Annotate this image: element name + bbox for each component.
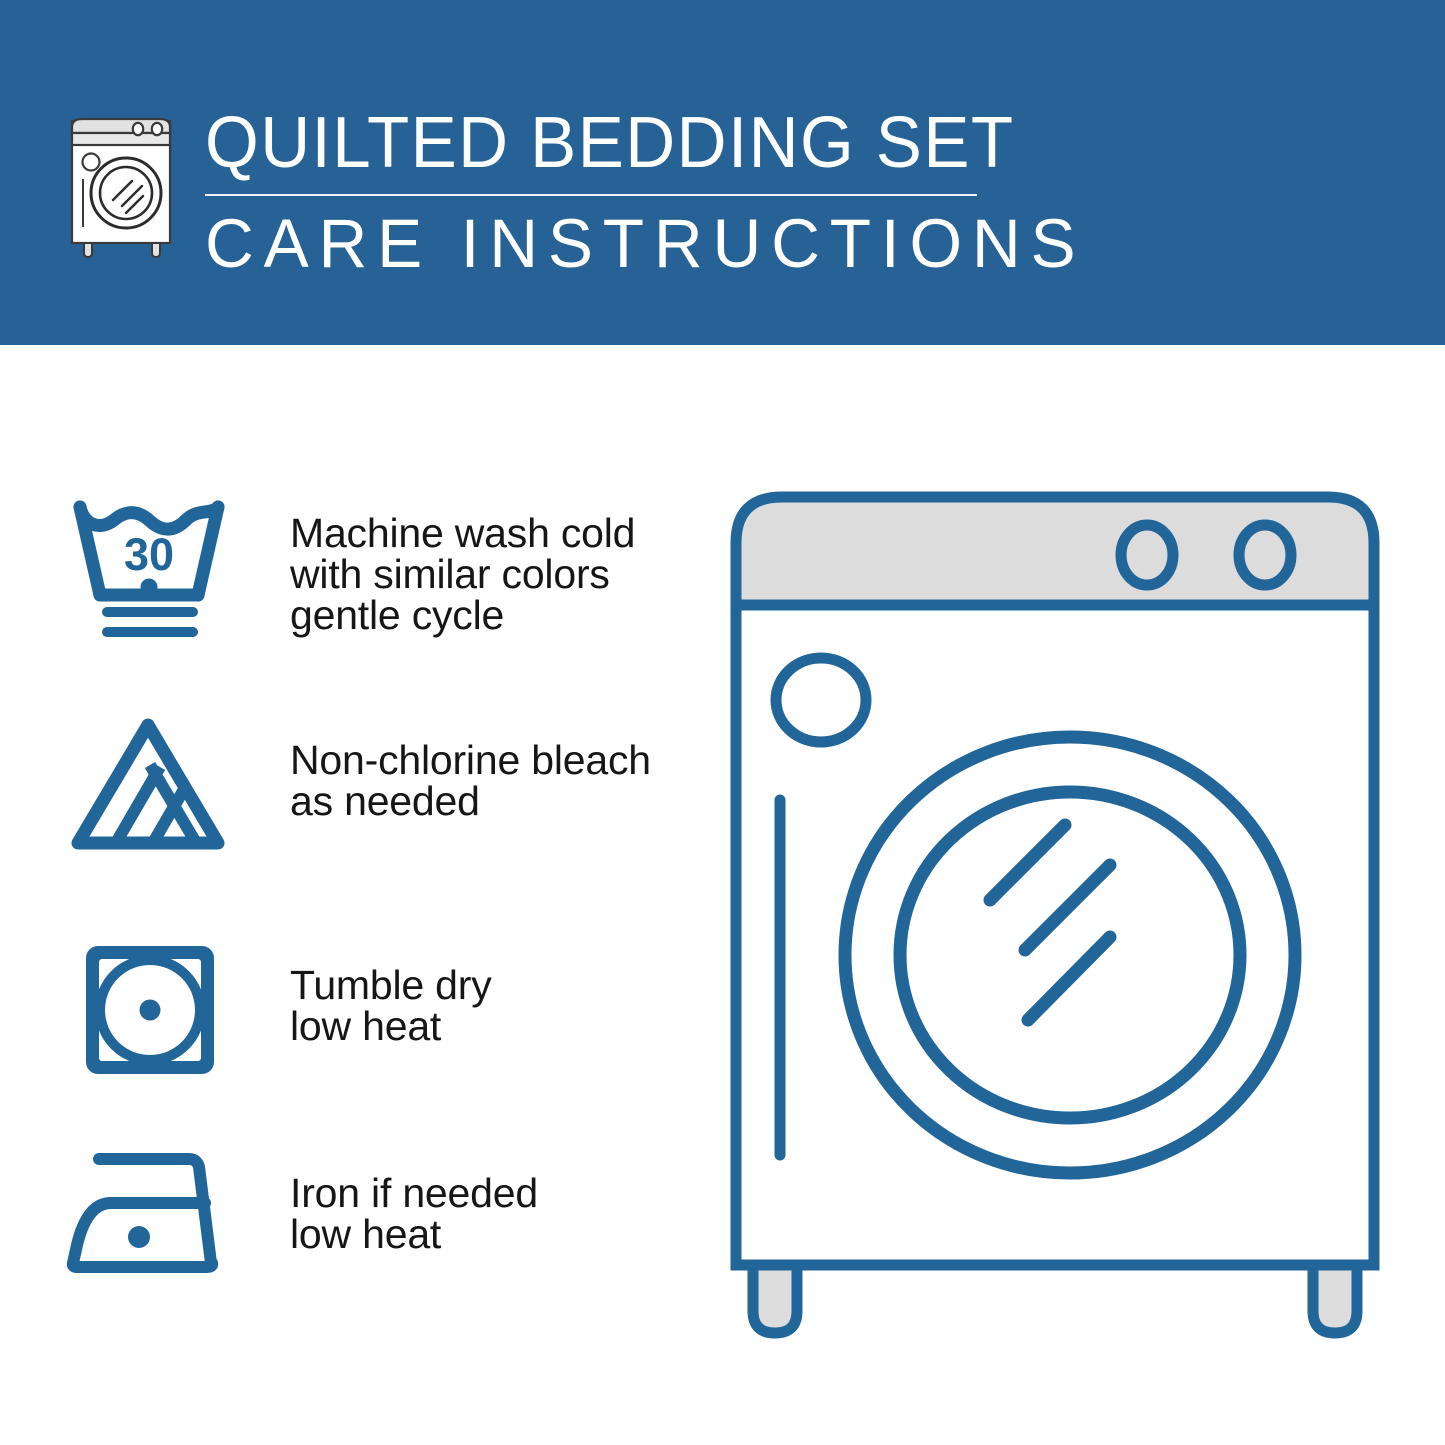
care-instruction-text: Iron if needed low heat (290, 1173, 690, 1255)
care-text-line: Machine wash cold (290, 513, 690, 554)
header-text-block: QUILTED BEDDING SET CARE INSTRUCTIONS (205, 104, 995, 282)
page-title: QUILTED BEDDING SET (205, 104, 963, 182)
care-text-line: low heat (290, 1214, 690, 1255)
care-instructions-list: 30 Machine wash cold with similar colors… (0, 345, 700, 1445)
tumble-dry-low-heat-icon (80, 940, 220, 1080)
care-text-line: Iron if needed (290, 1173, 690, 1214)
care-instruction-text: Tumble dry low heat (290, 965, 690, 1047)
non-chlorine-bleach-triangle-icon (70, 715, 242, 857)
care-text-line: low heat (290, 1006, 690, 1047)
care-text-line: Non-chlorine bleach (290, 740, 690, 781)
care-text-line: as needed (290, 781, 690, 822)
iron-low-heat-icon (65, 1145, 245, 1275)
header-divider (205, 194, 977, 196)
care-text-line: gentle cycle (290, 595, 690, 636)
svg-text:30: 30 (124, 529, 174, 580)
washing-machine-icon (64, 103, 184, 258)
care-text-line: Tumble dry (290, 965, 690, 1006)
care-instruction-text: Non-chlorine bleach as needed (290, 740, 690, 822)
front-load-washing-machine-illustration (725, 475, 1415, 1370)
header-band: QUILTED BEDDING SET CARE INSTRUCTIONS (0, 0, 1445, 345)
care-text-line: with similar colors (290, 554, 690, 595)
care-instructions-page: QUILTED BEDDING SET CARE INSTRUCTIONS 30 (0, 0, 1445, 1445)
page-subtitle: CARE INSTRUCTIONS (205, 206, 979, 282)
care-instruction-text: Machine wash cold with similar colors ge… (290, 513, 690, 636)
machine-wash-tub-30-icon: 30 (70, 495, 242, 647)
